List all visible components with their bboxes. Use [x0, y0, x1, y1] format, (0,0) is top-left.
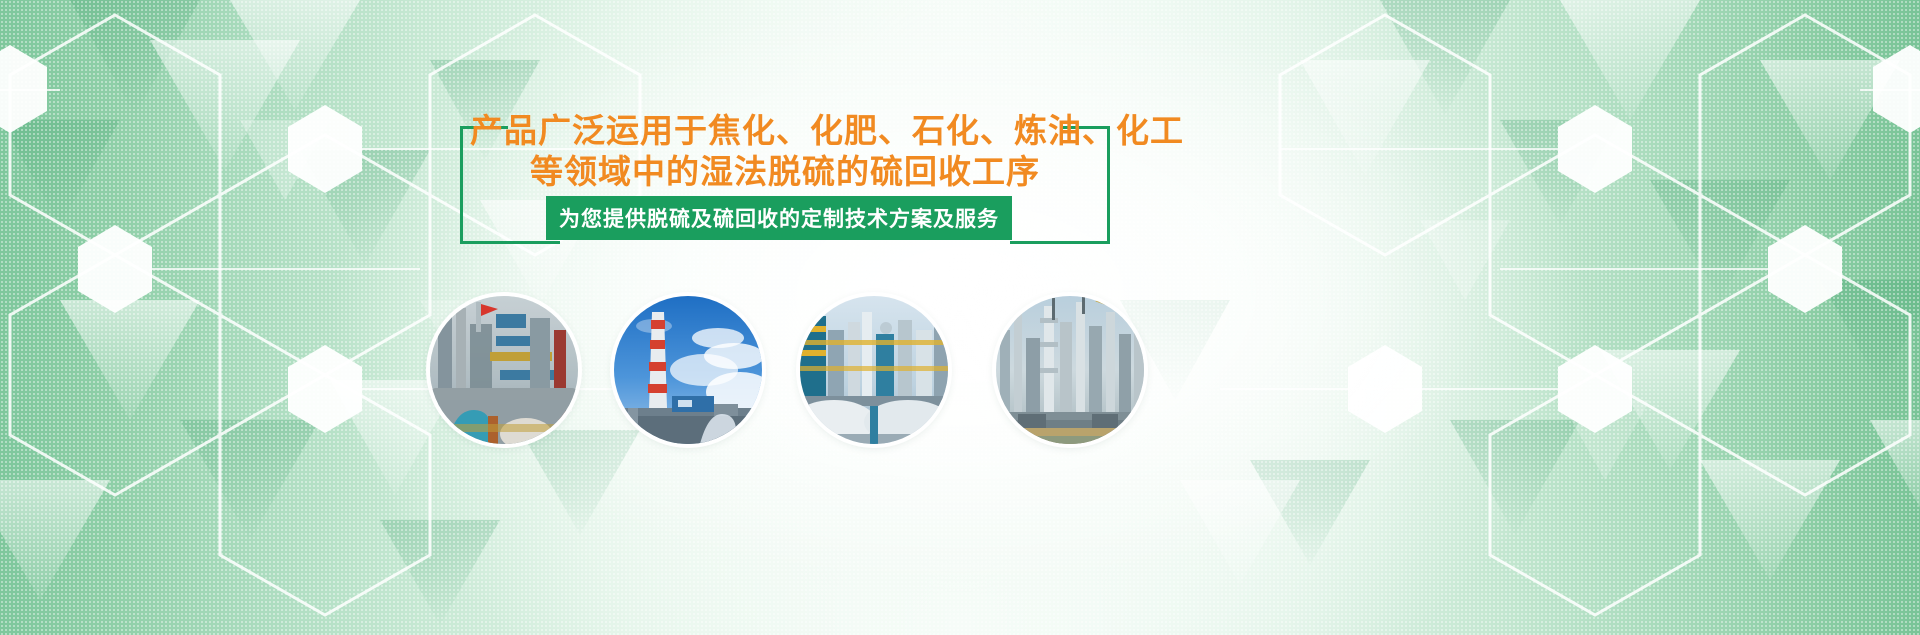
headline-line-1: 产品广泛运用于焦化、化肥、石化、炼油、化工	[470, 110, 1100, 151]
subheadline-bar: 为您提供脱硫及硫回收的定制技术方案及服务	[546, 196, 1012, 240]
frame-line-bottom-left	[460, 241, 560, 244]
frame-line-bottom-right	[1010, 241, 1110, 244]
photo-refinery-towers	[996, 296, 1144, 444]
headline-line-2: 等领域中的湿法脱硫的硫回收工序	[470, 151, 1100, 192]
frame-line-left	[460, 126, 463, 244]
photo-desulfurization-plant	[430, 296, 578, 444]
headline: 产品广泛运用于焦化、化肥、石化、炼油、化工 等领域中的湿法脱硫的硫回收工序	[470, 110, 1100, 192]
photo-sulfur-recovery-unit	[800, 296, 948, 444]
hero-banner: 产品广泛运用于焦化、化肥、石化、炼油、化工 等领域中的湿法脱硫的硫回收工序 为您…	[0, 0, 1920, 635]
photo-chimney-stack	[614, 296, 762, 444]
subheadline-text: 为您提供脱硫及硫回收的定制技术方案及服务	[559, 203, 999, 233]
photo-strip	[0, 296, 1920, 444]
